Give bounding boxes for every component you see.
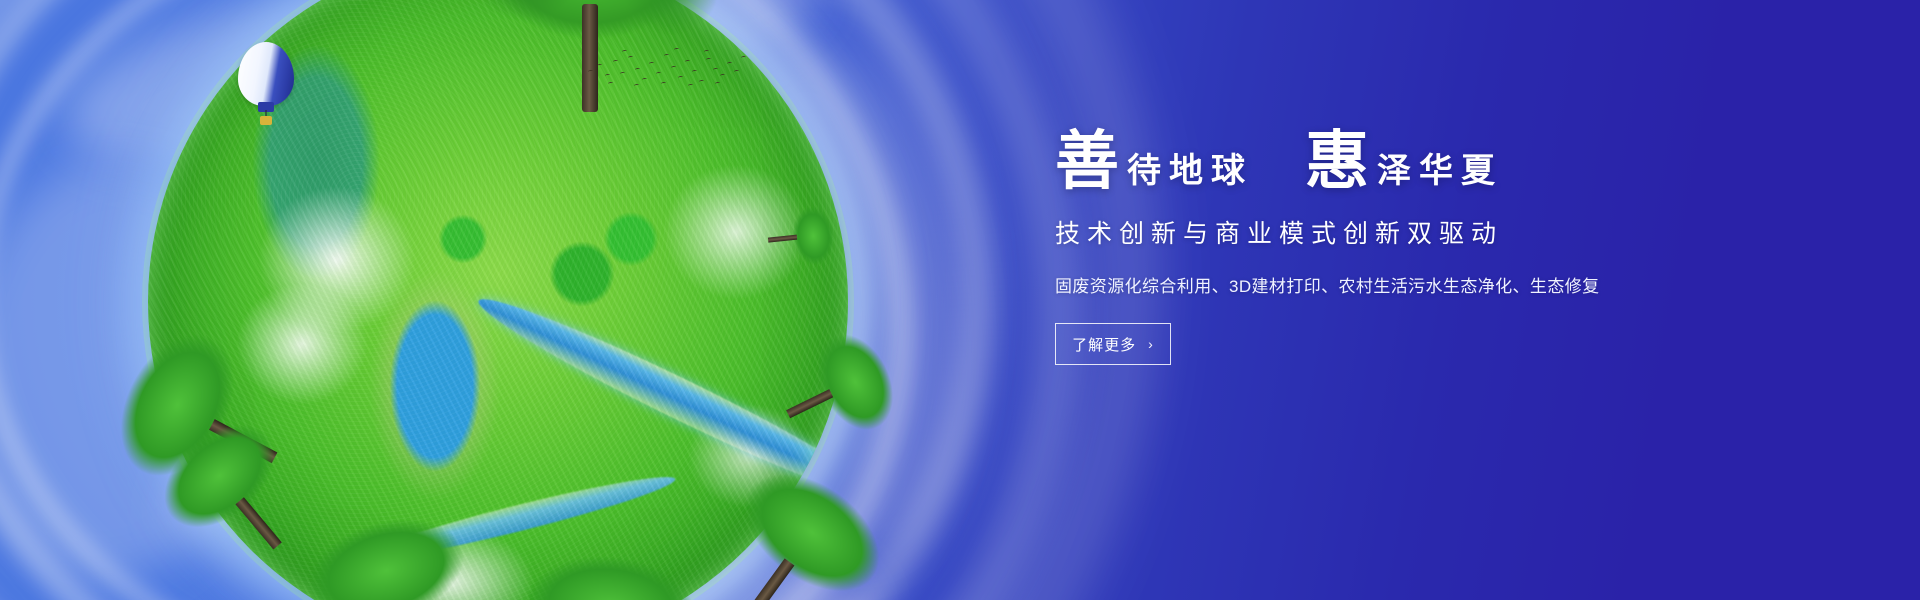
balloon-basket	[260, 116, 272, 125]
bird-icon	[664, 54, 669, 58]
bird-icon	[688, 84, 693, 88]
chevron-right-icon: ›	[1148, 336, 1154, 352]
hero-banner: 善 待地球 惠 泽华夏 技术创新与商业模式创新双驱动 固废资源化综合利用、3D建…	[0, 0, 1920, 600]
hero-content: 善 待地球 惠 泽华夏 技术创新与商业模式创新双驱动 固废资源化综合利用、3D建…	[1055, 128, 1695, 365]
page-title: 善 待地球 惠 泽华夏	[1055, 128, 1695, 192]
bird-icon	[685, 60, 690, 64]
bird-icon	[678, 76, 683, 80]
bird-icon	[608, 82, 613, 86]
bird-flock-icon	[586, 48, 746, 94]
small-tree-icon	[765, 199, 842, 276]
bird-icon	[635, 68, 640, 72]
bird-icon	[656, 72, 661, 76]
headline-char-1: 善	[1055, 130, 1119, 194]
bird-icon	[649, 62, 654, 66]
learn-more-label: 了解更多	[1072, 334, 1136, 355]
headline-rest-2: 泽华夏	[1369, 154, 1503, 188]
hot-air-balloon-icon	[238, 42, 294, 130]
bird-icon	[605, 74, 610, 78]
bird-icon	[720, 74, 725, 78]
bird-icon	[588, 70, 593, 74]
bird-icon	[674, 48, 679, 52]
headline-char-2: 惠	[1305, 130, 1369, 194]
bird-icon	[642, 78, 647, 82]
bird-icon	[661, 82, 666, 86]
bird-icon	[628, 56, 633, 60]
bird-icon	[706, 58, 711, 62]
bird-icon	[727, 62, 732, 66]
bird-icon	[620, 72, 625, 76]
bird-icon	[692, 70, 697, 74]
bird-icon	[713, 68, 718, 72]
bird-icon	[634, 84, 639, 88]
bird-icon	[699, 80, 704, 84]
learn-more-button[interactable]: 了解更多 ›	[1055, 323, 1171, 365]
balloon-envelope	[238, 42, 294, 106]
bird-icon	[671, 66, 676, 70]
headline-rest-1: 待地球	[1119, 154, 1253, 188]
bird-icon	[597, 64, 602, 68]
page-subtitle: 技术创新与商业模式创新双驱动	[1055, 214, 1695, 250]
bird-icon	[741, 56, 746, 60]
bird-icon	[704, 50, 709, 54]
bird-icon	[734, 70, 739, 74]
page-description: 固废资源化综合利用、3D建材打印、农村生活污水生态净化、生态修复	[1055, 272, 1695, 297]
bird-icon	[715, 82, 720, 86]
bird-icon	[622, 50, 627, 54]
bird-icon	[613, 60, 618, 64]
